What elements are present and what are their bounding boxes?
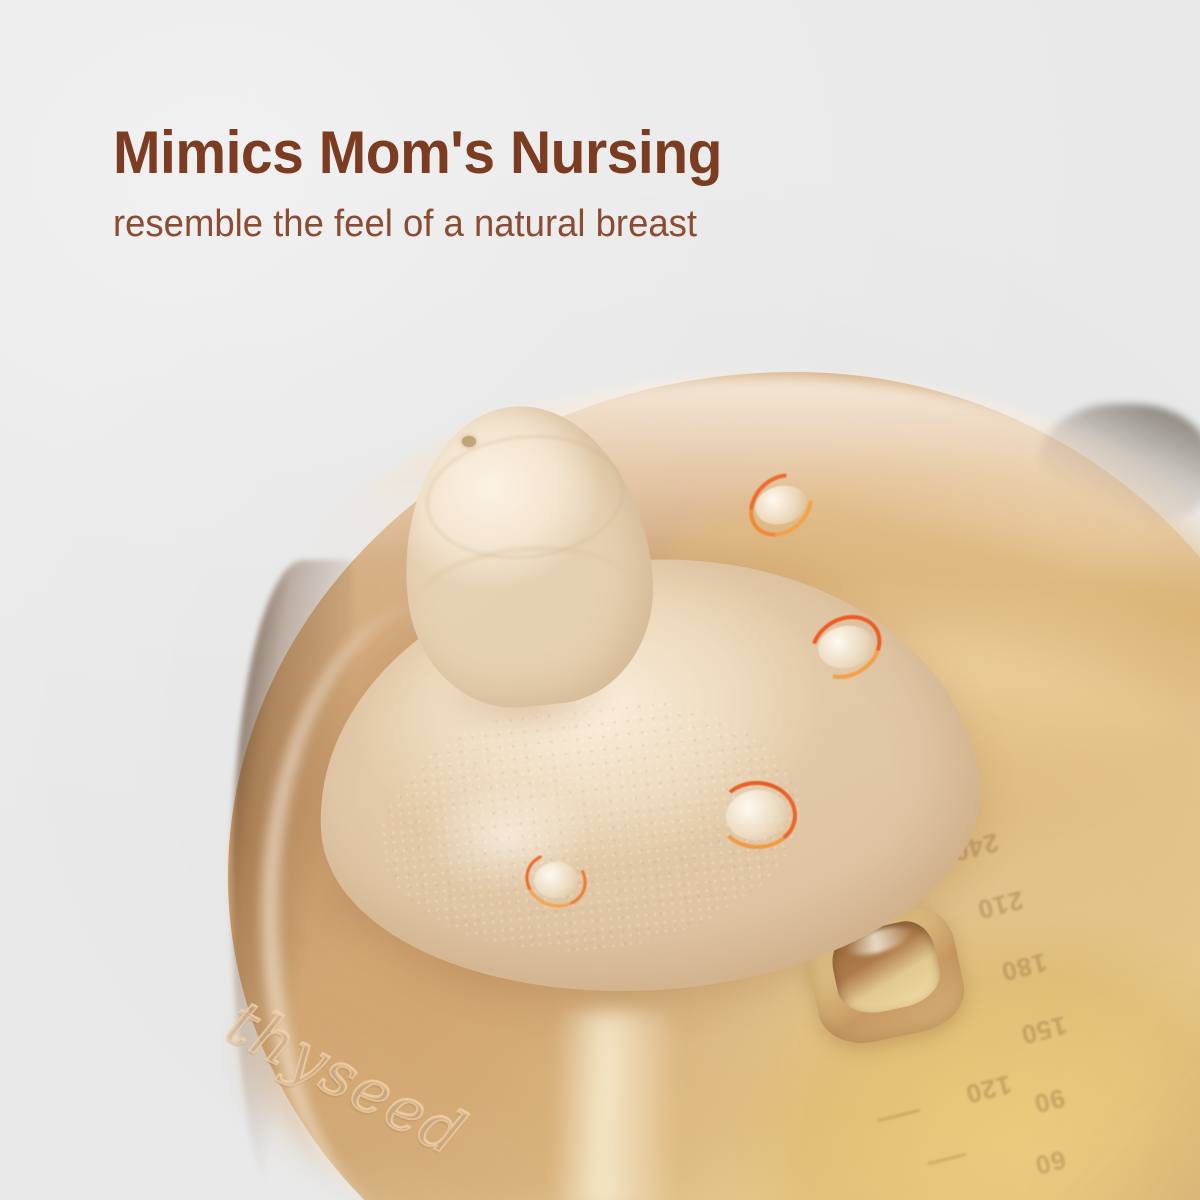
graduation-tick — [927, 1153, 967, 1166]
texture-bump-2 — [815, 621, 877, 672]
nipple-feeding-hole — [462, 436, 476, 447]
texture-bump-1 — [751, 480, 811, 529]
texture-bump-4 — [532, 860, 580, 900]
bottle-vertical-highlight — [556, 1010, 676, 1200]
texture-bump-3 — [723, 786, 791, 844]
graduation-60: 60 — [1031, 1143, 1069, 1181]
subheadline: resemble the feel of a natural breast — [113, 205, 728, 245]
graduation-90: 90 — [1030, 1082, 1068, 1120]
product-marketing-image: 270 240 210 180 150 120 90 60 thyseed — [0, 0, 1200, 1200]
graduation-120: 120 — [962, 1068, 1015, 1109]
marketing-copy: Mimics Mom's Nursing resemble the feel o… — [113, 122, 754, 245]
graduation-tick — [877, 1109, 920, 1123]
graduation-210: 210 — [974, 884, 1027, 925]
graduation-180: 180 — [998, 946, 1051, 987]
graduation-150: 150 — [1017, 1009, 1070, 1050]
headline: Mimics Mom's Nursing — [113, 122, 722, 183]
